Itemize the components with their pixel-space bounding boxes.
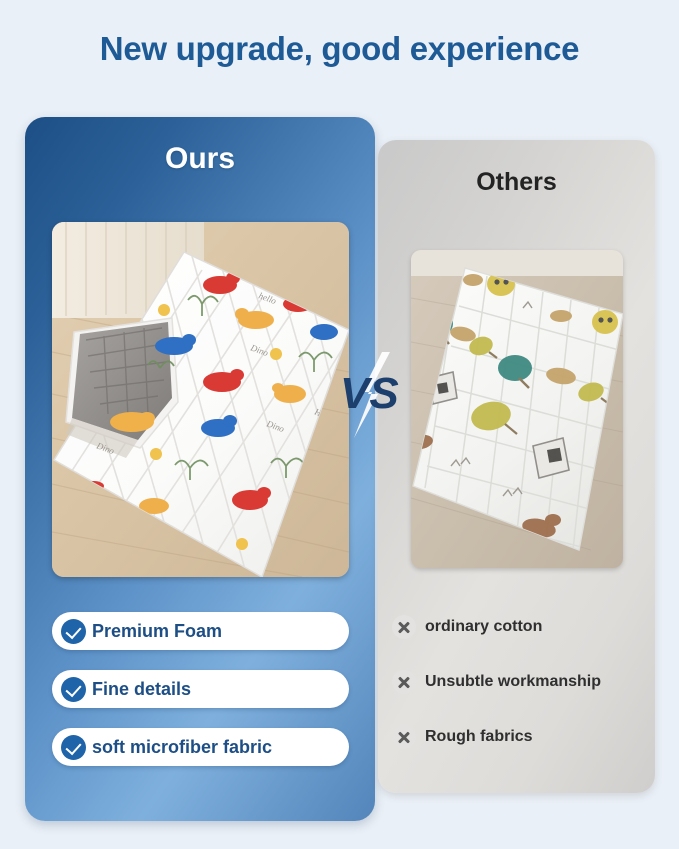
feature-label: soft microfiber fabric [92, 737, 272, 758]
feature-label: Fine details [92, 679, 191, 700]
panel-heading-ours: Ours [25, 142, 375, 176]
x-circle-icon [392, 725, 416, 749]
check-circle-icon [61, 677, 86, 702]
drawback-item[interactable]: ordinary cotton [392, 612, 655, 642]
comparison-panel-others: Others [378, 140, 655, 793]
x-circle-icon [392, 670, 416, 694]
x-circle-icon [392, 615, 416, 639]
feature-list-ours: Premium Foam Fine details soft microfibe… [52, 612, 349, 766]
panel-heading-others: Others [378, 168, 655, 197]
product-photo-others [411, 250, 623, 568]
drawback-label: Rough fabrics [425, 728, 533, 746]
comparison-panel-ours: Ours [25, 117, 375, 821]
feature-item[interactable]: soft microfiber fabric [52, 728, 349, 766]
vs-badge: VS [338, 352, 414, 438]
feature-item[interactable]: Premium Foam [52, 612, 349, 650]
check-circle-icon [61, 735, 86, 760]
drawback-label: Unsubtle workmanship [425, 673, 601, 691]
drawback-item[interactable]: Unsubtle workmanship [392, 667, 655, 697]
page-title: New upgrade, good experience [0, 30, 679, 68]
vs-label: VS [340, 369, 399, 418]
feature-item[interactable]: Fine details [52, 670, 349, 708]
drawback-list-others: ordinary cotton Unsubtle workmanship Rou… [392, 612, 655, 752]
drawback-item[interactable]: Rough fabrics [392, 722, 655, 752]
check-circle-icon [61, 619, 86, 644]
feature-label: Premium Foam [92, 621, 222, 642]
product-photo-ours: Hi Dino Dino Dino Hi hello [52, 222, 349, 577]
drawback-label: ordinary cotton [425, 618, 542, 636]
